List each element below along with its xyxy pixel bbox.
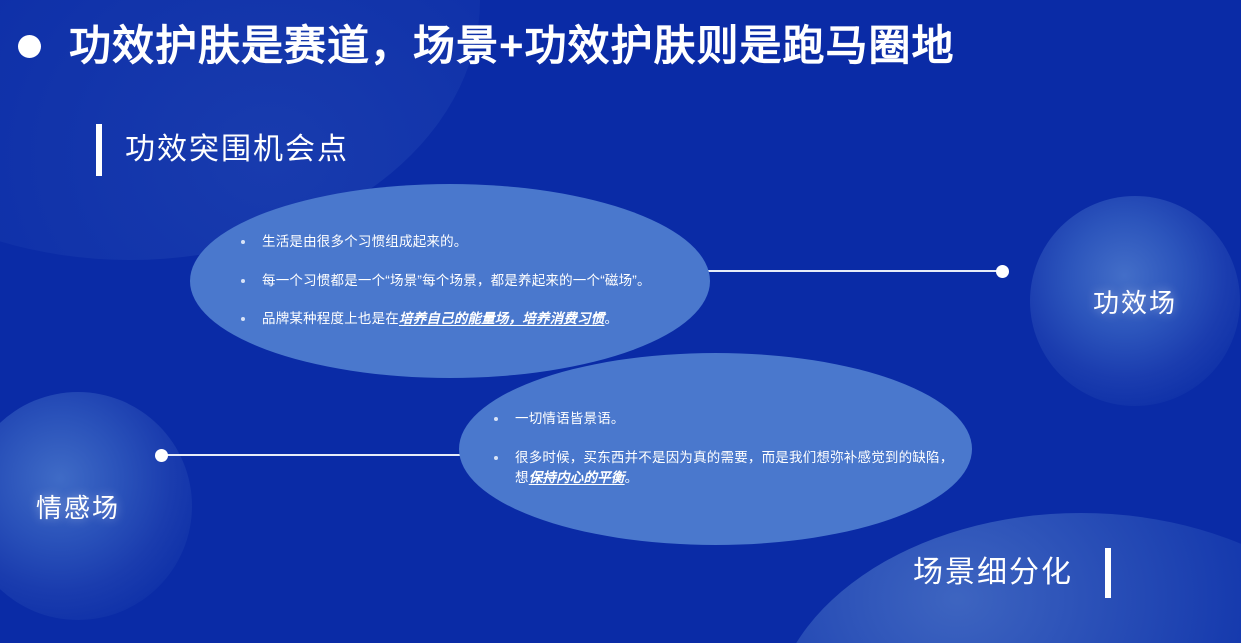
footer-label: 场景细分化 xyxy=(913,548,1111,598)
list-item-lead: 每一个习惯都是一个“场景”每个场景，都是养起来的一个“磁场”。 xyxy=(262,273,651,288)
heading-accent-bar xyxy=(96,124,102,176)
list-item-emphasis: 培养自己的能量场，培养消费习惯 xyxy=(399,311,605,326)
list-item-lead: 生活是由很多个习惯组成起来的。 xyxy=(262,234,468,249)
footer-label-text: 场景细分化 xyxy=(913,558,1073,588)
list-item-emphasis: 保持内心的平衡 xyxy=(529,470,625,485)
content-bubble-habit: 生活是由很多个习惯组成起来的。 每一个习惯都是一个“场景”每个场景，都是养起来的… xyxy=(190,184,710,378)
page-title: 功效护肤是赛道，场景+功效护肤则是跑马圈地 xyxy=(69,25,955,67)
connector-dot-bottom xyxy=(155,449,168,462)
list-item-tail: 。 xyxy=(625,470,639,485)
connector-dot-top xyxy=(996,265,1009,278)
sphere-efficacy-field: 功效场 xyxy=(1030,196,1240,406)
sphere-efficacy-field-label: 功效场 xyxy=(1093,283,1177,320)
list-item: 一切情语皆景语。 xyxy=(491,409,958,430)
list-item: 每一个习惯都是一个“场景”每个场景，都是养起来的一个“磁场”。 xyxy=(238,271,676,292)
content-bubble-emotion: 一切情语皆景语。 很多时候，买东西并不是因为真的需要，而是我们想弥补感觉到的缺陷… xyxy=(459,353,972,545)
connector-line-bottom xyxy=(166,454,466,456)
filled-circle-icon xyxy=(18,35,41,58)
list-item-tail: 。 xyxy=(605,311,619,326)
sphere-emotion-field: 情感场 xyxy=(0,392,192,620)
list-item-lead: 一切情语皆景语。 xyxy=(515,411,625,426)
slide-header: 功效护肤是赛道，场景+功效护肤则是跑马圈地 xyxy=(0,0,1241,92)
sphere-emotion-field-label: 情感场 xyxy=(36,488,120,525)
slide-canvas: 功效护肤是赛道，场景+功效护肤则是跑马圈地 功效突围机会点 情感场 功效场 生活… xyxy=(0,0,1241,643)
connector-line-top xyxy=(700,270,1000,272)
list-item-lead: 品牌某种程度上也是在 xyxy=(262,311,399,326)
bubble-emotion-list: 一切情语皆景语。 很多时候，买东西并不是因为真的需要，而是我们想弥补感觉到的缺陷… xyxy=(459,409,972,489)
bubble-habit-list: 生活是由很多个习惯组成起来的。 每一个习惯都是一个“场景”每个场景，都是养起来的… xyxy=(190,232,710,330)
section-heading: 功效突围机会点 xyxy=(96,124,349,176)
list-item: 很多时候，买东西并不是因为真的需要，而是我们想弥补感觉到的缺陷，想保持内心的平衡… xyxy=(491,448,958,489)
footer-accent-bar xyxy=(1105,548,1111,598)
list-item: 品牌某种程度上也是在培养自己的能量场，培养消费习惯。 xyxy=(238,309,676,330)
list-item: 生活是由很多个习惯组成起来的。 xyxy=(238,232,676,253)
section-heading-label: 功效突围机会点 xyxy=(125,135,349,165)
